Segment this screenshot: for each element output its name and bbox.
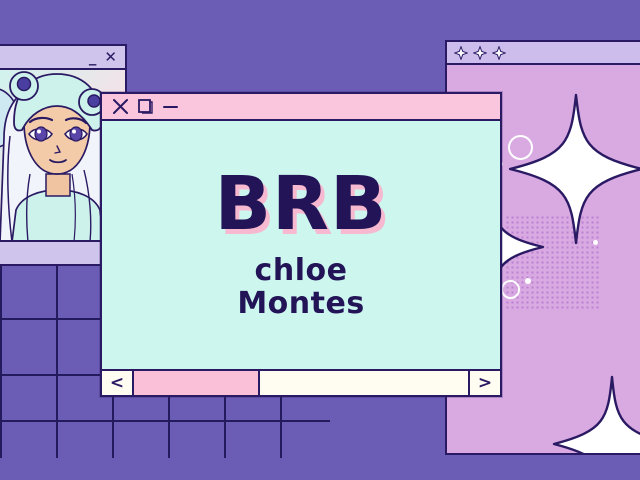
- scroll-left-button[interactable]: <: [102, 371, 134, 395]
- right-window-titlebar[interactable]: [447, 42, 640, 65]
- scroll-right-button[interactable]: >: [468, 371, 500, 395]
- close-icon[interactable]: ✕: [104, 50, 117, 65]
- sparkle-diamond-icon: [454, 46, 468, 60]
- page-title: BRB: [215, 169, 388, 239]
- sparkle-diamond-icon: [492, 46, 506, 60]
- sparkle-star-bottom: [552, 375, 640, 453]
- left-window-titlebar[interactable]: _ ✕: [0, 46, 125, 70]
- sparkle-diamond-icon: [473, 46, 487, 60]
- main-window-content: BRB chloe Montes: [102, 121, 500, 369]
- minimize-icon[interactable]: [162, 98, 179, 115]
- screenshot-canvas: _ ✕: [0, 0, 640, 480]
- close-icon[interactable]: [112, 98, 129, 115]
- horizontal-scrollbar[interactable]: < >: [102, 369, 500, 395]
- scrollbar-track[interactable]: [134, 371, 468, 395]
- subtitle-line-2: Montes: [237, 287, 364, 321]
- main-window[interactable]: BRB chloe Montes < >: [100, 92, 502, 397]
- main-window-titlebar[interactable]: [102, 94, 500, 121]
- scrollbar-thumb[interactable]: [134, 371, 260, 395]
- subtitle-line-1: chloe: [255, 254, 348, 288]
- restore-icon[interactable]: [138, 99, 153, 114]
- minimize-icon[interactable]: _: [89, 50, 97, 65]
